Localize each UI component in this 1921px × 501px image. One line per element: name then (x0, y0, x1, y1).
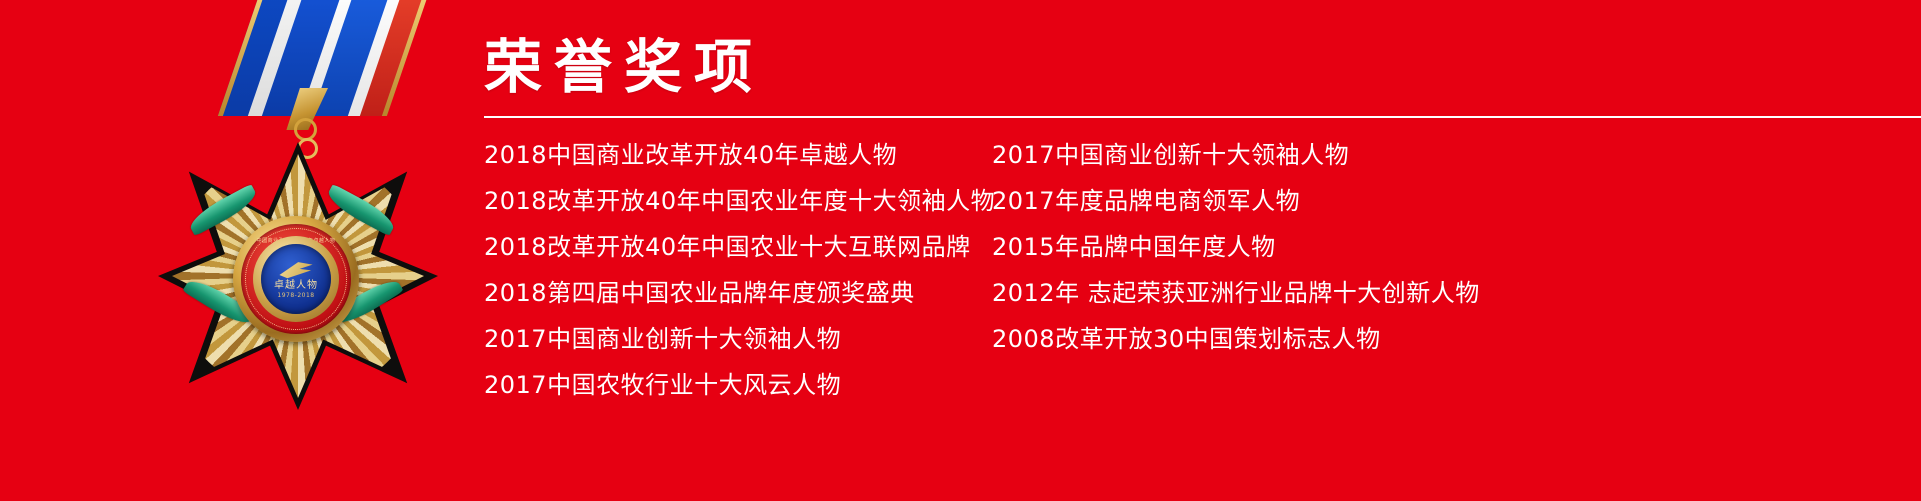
award-item: 2018中国商业改革开放40年卓越人物 (484, 132, 992, 178)
awards-columns: 2018中国商业改革开放40年卓越人物 2018改革开放40年中国农业年度十大领… (484, 132, 1884, 408)
medal-swoosh-icon (278, 261, 314, 279)
title-divider (484, 116, 1921, 118)
award-item: 2017中国农牧行业十大风云人物 (484, 362, 992, 408)
medal-center-disc: 中国商业改革开放40年卓越人物 卓越人物 1978-2018 (233, 216, 359, 342)
medal-blue-face: 卓越人物 1978-2018 (261, 244, 331, 314)
award-item: 2008改革开放30中国策划标志人物 (992, 316, 1612, 362)
honors-awards-banner: 中国商业改革开放40年卓越人物 卓越人物 1978-2018 荣誉奖项 2018… (0, 0, 1921, 501)
medal-center-years: 1978-2018 (277, 292, 314, 299)
award-item: 2018第四届中国农业品牌年度颁奖盛典 (484, 270, 992, 316)
medal-illustration: 中国商业改革开放40年卓越人物 卓越人物 1978-2018 (148, 0, 468, 412)
medal-center-label: 卓越人物 (274, 280, 318, 291)
award-item: 2012年 志起荣获亚洲行业品牌十大创新人物 (992, 270, 1612, 316)
award-item: 2018改革开放40年中国农业年度十大领袖人物 (484, 178, 992, 224)
banner-content: 荣誉奖项 2018中国商业改革开放40年卓越人物 2018改革开放40年中国农业… (484, 36, 1884, 408)
award-item: 2015年品牌中国年度人物 (992, 224, 1612, 270)
award-item: 2017中国商业创新十大领袖人物 (992, 132, 1612, 178)
award-item: 2017年度品牌电商领军人物 (992, 178, 1612, 224)
award-item: 2017中国商业创新十大领袖人物 (484, 316, 992, 362)
award-item: 2018改革开放40年中国农业十大互联网品牌 (484, 224, 992, 270)
awards-right-column: 2017中国商业创新十大领袖人物 2017年度品牌电商领军人物 2015年品牌中… (992, 132, 1612, 408)
page-title: 荣誉奖项 (484, 36, 1884, 100)
awards-left-column: 2018中国商业改革开放40年卓越人物 2018改革开放40年中国农业年度十大领… (484, 132, 992, 408)
